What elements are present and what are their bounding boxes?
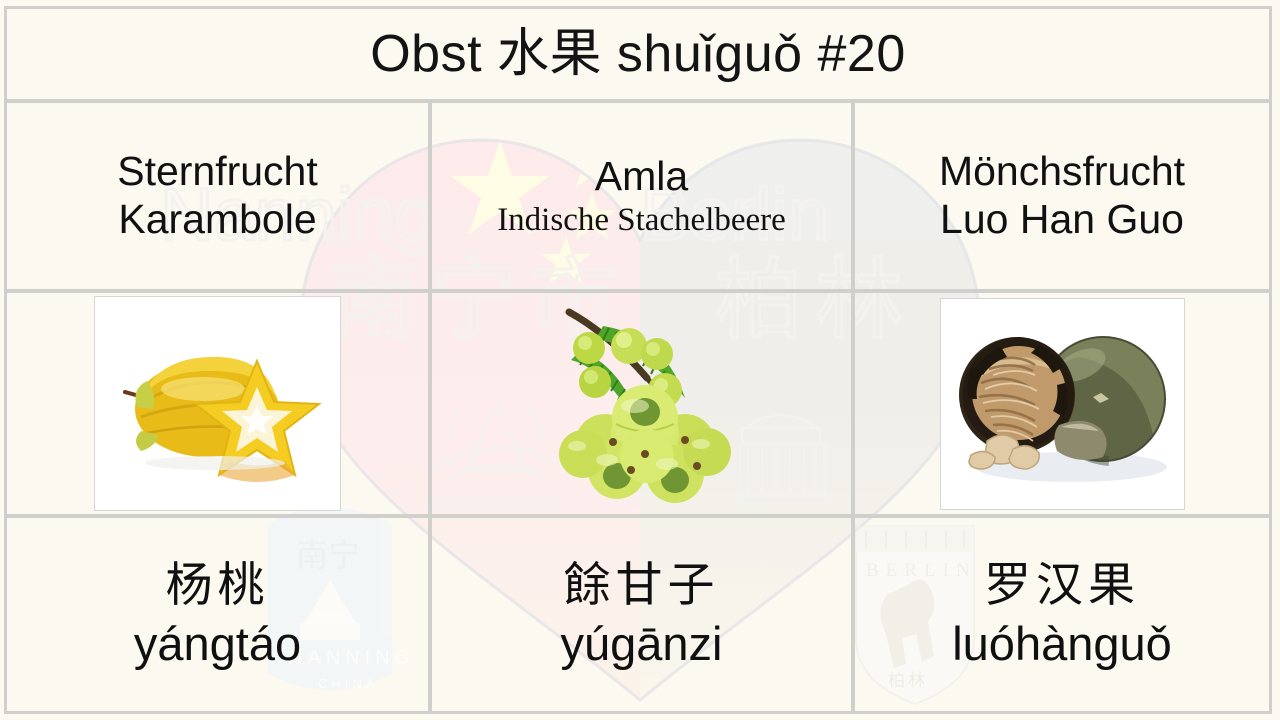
image-cell-monkfruit <box>855 293 1269 514</box>
pinyin-amla: yúgānzi <box>561 615 723 672</box>
pinyin-starfruit: yángtáo <box>134 615 301 672</box>
pinyin-monkfruit: luóhànguǒ <box>952 615 1172 672</box>
flashcard-table: Obst 水果 shuǐguǒ #20 Sternfrucht Karambol… <box>4 6 1272 714</box>
chinese-monkfruit: 罗汉果 <box>984 557 1140 614</box>
german-primary-monkfruit: Mönchsfrucht <box>939 148 1185 196</box>
german-secondary-monkfruit: Luo Han Guo <box>940 196 1184 244</box>
image-cell-amla <box>428 293 855 514</box>
german-cell-starfruit: Sternfrucht Karambole <box>7 103 428 289</box>
chinese-starfruit: 杨桃 <box>166 557 270 614</box>
title-cell: Obst 水果 shuǐguǒ #20 <box>7 9 1269 99</box>
image-row <box>7 293 1269 518</box>
german-cell-monkfruit: Mönchsfrucht Luo Han Guo <box>855 103 1269 289</box>
monkfruit-photo <box>940 298 1185 510</box>
chinese-row: 杨桃 yángtáo 餘甘子 yúgānzi 罗汉果 luóhànguǒ <box>7 518 1269 711</box>
image-cell-starfruit <box>7 293 428 514</box>
chinese-cell-amla: 餘甘子 yúgānzi <box>428 518 855 711</box>
german-primary-starfruit: Sternfrucht <box>117 148 318 196</box>
amla-photo <box>517 294 767 514</box>
german-secondary-amla: Indische Stachelbeere <box>497 201 786 239</box>
page-title: Obst 水果 shuǐguǒ #20 <box>370 28 906 80</box>
starfruit-photo <box>94 296 341 511</box>
chinese-cell-monkfruit: 罗汉果 luóhànguǒ <box>855 518 1269 711</box>
german-cell-amla: Amla Indische Stachelbeere <box>428 103 855 289</box>
german-names-row: Sternfrucht Karambole Amla Indische Stac… <box>7 103 1269 293</box>
chinese-amla: 餘甘子 <box>564 557 720 614</box>
chinese-cell-starfruit: 杨桃 yángtáo <box>7 518 428 711</box>
german-primary-amla: Amla <box>595 153 688 201</box>
german-secondary-starfruit: Karambole <box>118 196 316 244</box>
title-row: Obst 水果 shuǐguǒ #20 <box>7 9 1269 103</box>
